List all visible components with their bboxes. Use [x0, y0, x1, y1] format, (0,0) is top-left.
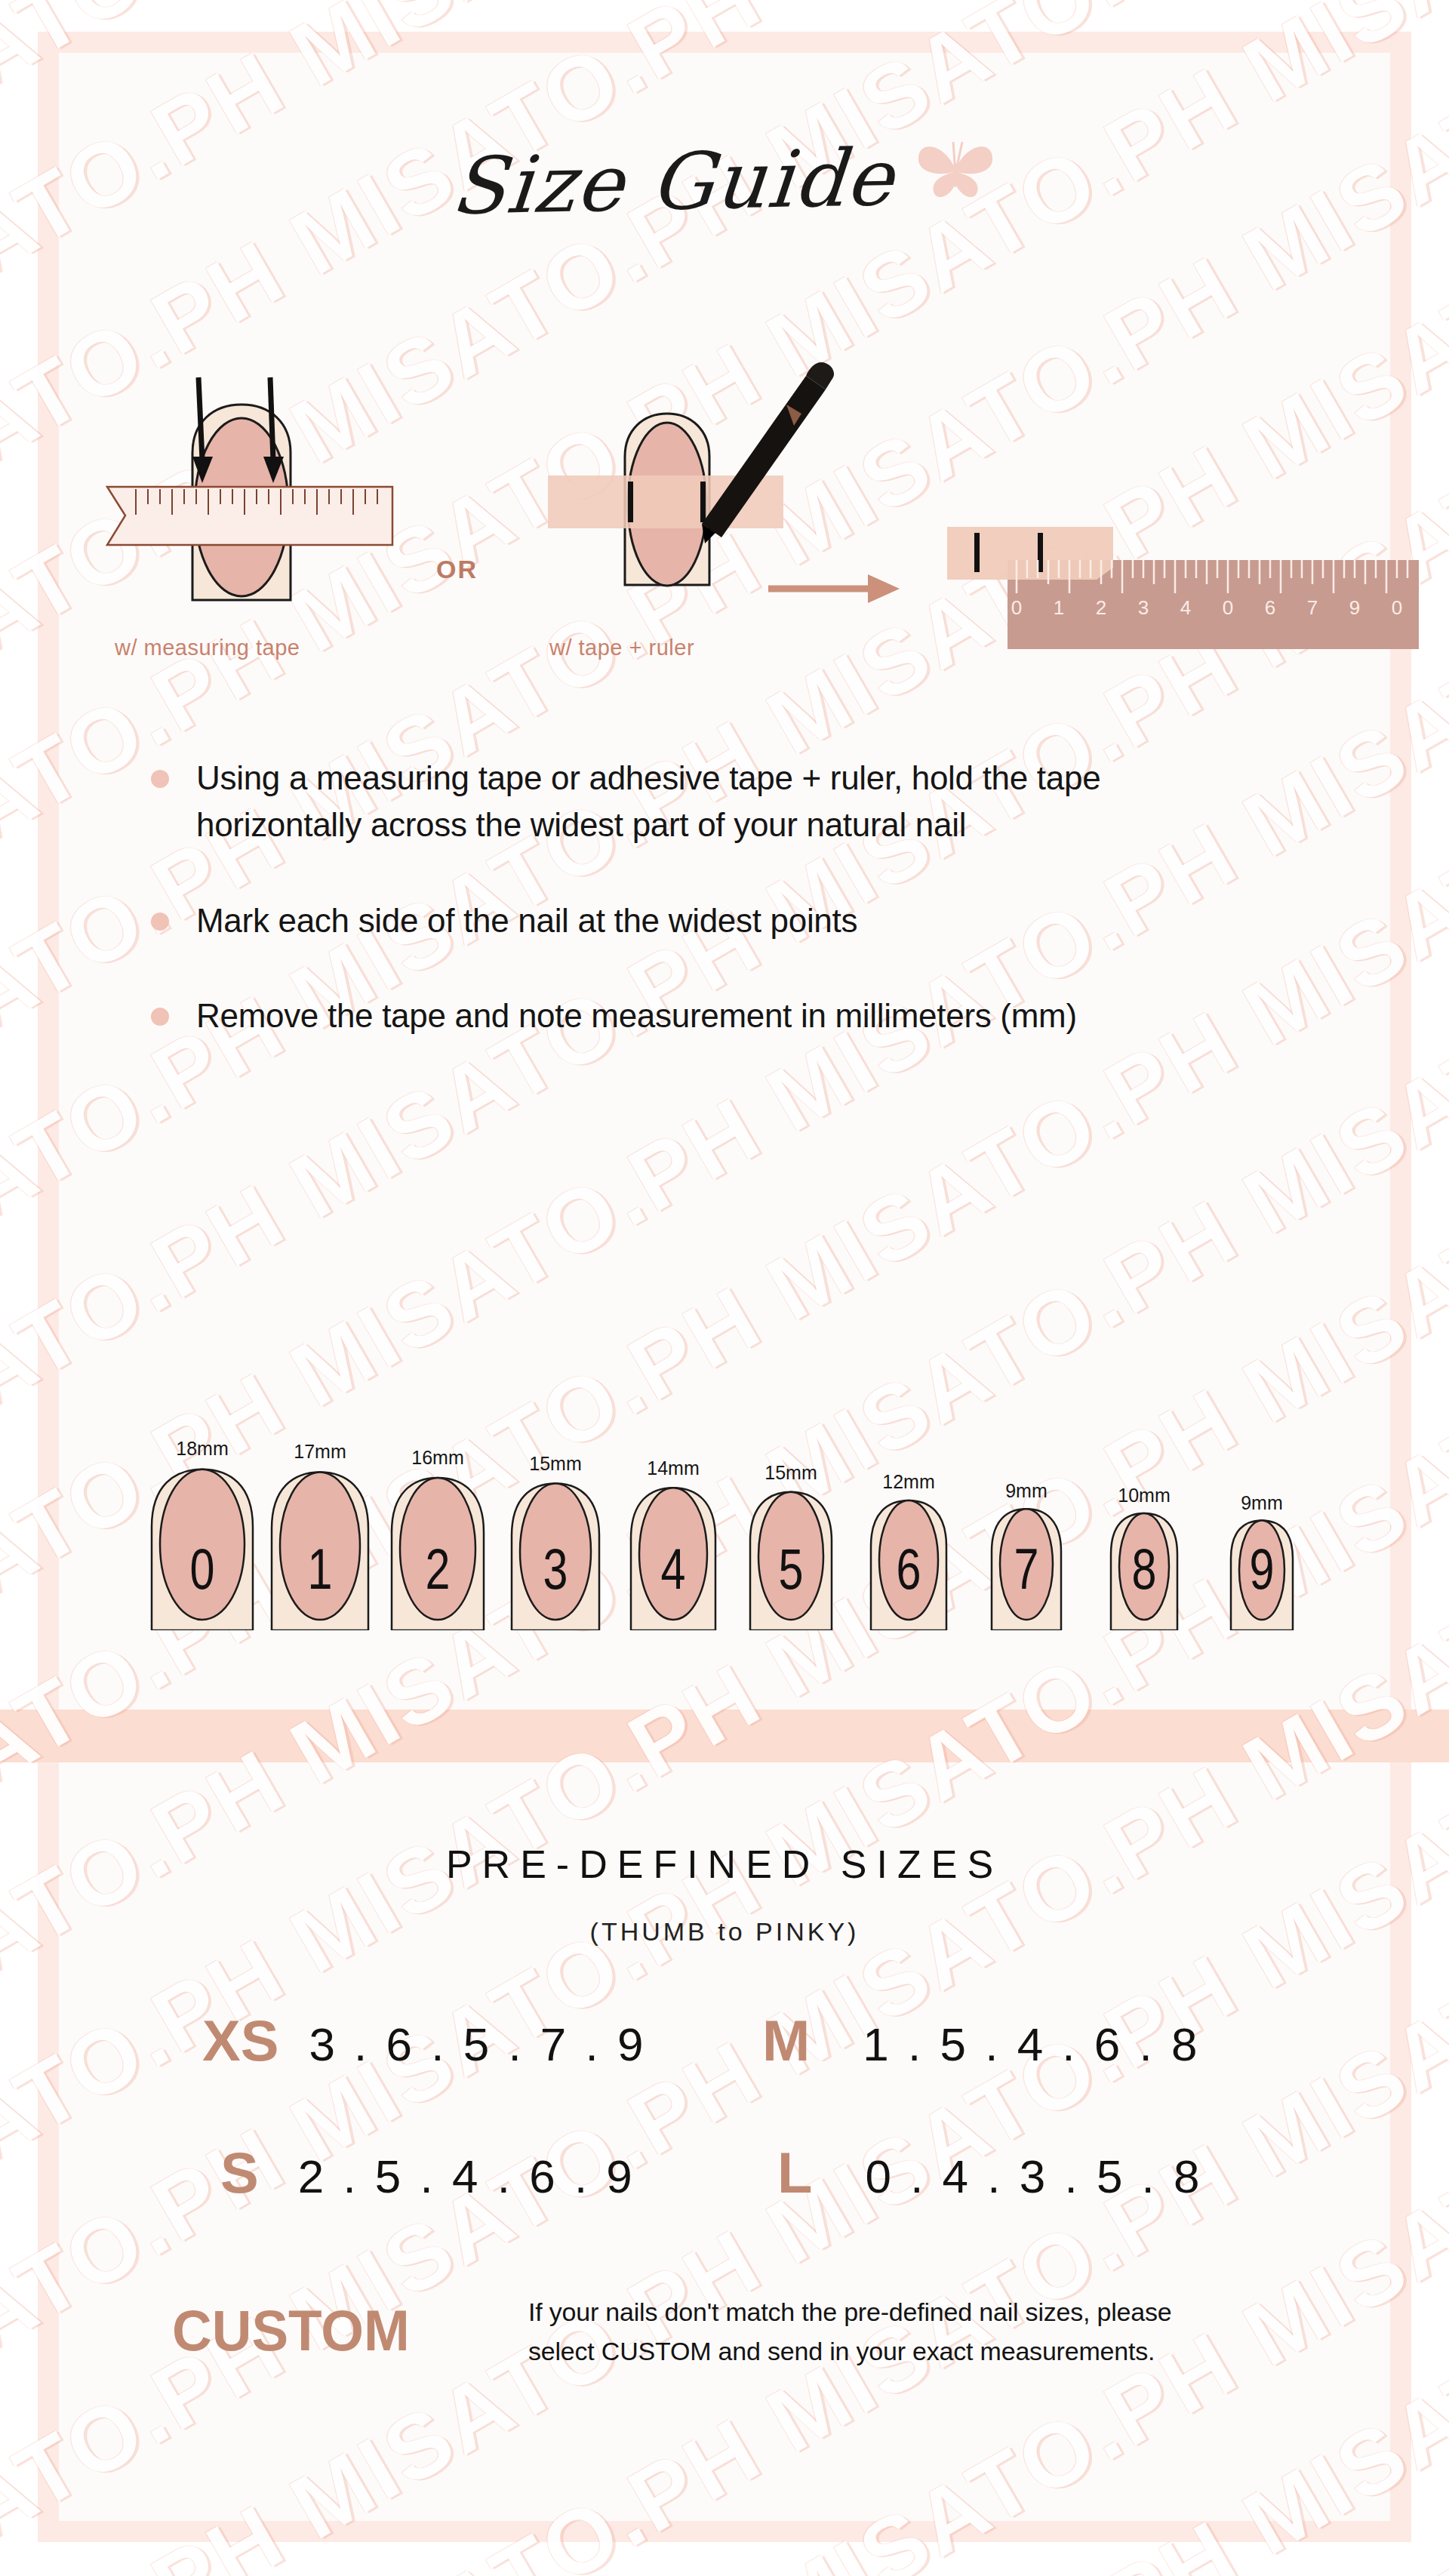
- page-title: Size Guide: [448, 131, 898, 232]
- nail-measurement-label: 18mm: [176, 1438, 228, 1460]
- page-title-wrap: Size Guide: [0, 136, 1449, 228]
- size-cell-s: S 2 . 5 . 4 . 6 . 9: [220, 2140, 635, 2205]
- instruction-text: Remove the tape and note measurement in …: [196, 993, 1077, 1039]
- nail-size-number: 2: [426, 1536, 451, 1602]
- size-label: M: [762, 2008, 810, 2073]
- ruler-tick-label: 3: [1138, 596, 1149, 619]
- size-row: S 2 . 5 . 4 . 6 . 9 L 0 . 4 . 3 . 5 . 8: [0, 2140, 1449, 2272]
- nail-size-number: 7: [1014, 1536, 1039, 1602]
- size-cell-xs: XS 3 . 6 . 5 . 7 . 9: [202, 2008, 647, 2073]
- butterfly-icon: [914, 130, 997, 208]
- size-values: 1 . 5 . 4 . 6 . 8: [863, 2017, 1200, 2071]
- size-values: 2 . 5 . 4 . 6 . 9: [298, 2150, 635, 2203]
- size-values: 0 . 4 . 3 . 5 . 8: [865, 2150, 1202, 2203]
- nail-measurement-label: 17mm: [294, 1441, 346, 1463]
- nail-size-number: 4: [661, 1536, 686, 1602]
- instructions-list: Using a measuring tape or adhesive tape …: [151, 755, 1298, 1075]
- or-label: OR: [436, 555, 478, 584]
- custom-description: If your nails don't match the pre-define…: [528, 2293, 1177, 2371]
- predefined-sizes-heading: PRE-DEFINED SIZES: [0, 1842, 1449, 1887]
- custom-label: CUSTOM: [172, 2297, 410, 2363]
- caption-measuring-tape: w/ measuring tape: [115, 636, 300, 660]
- nail-measurement-label: 15mm: [529, 1453, 581, 1475]
- size-row: XS 3 . 6 . 5 . 7 . 9 M 1 . 5 . 4 . 6 . 8: [0, 2008, 1449, 2140]
- list-item: Mark each side of the nail at the widest…: [151, 897, 1298, 944]
- nail-size-number: 0: [190, 1536, 215, 1602]
- instruction-text: Mark each side of the nail at the widest…: [196, 897, 857, 944]
- nail-measurement-label: 10mm: [1118, 1485, 1170, 1507]
- ruler-tick-label: 7: [1307, 596, 1318, 619]
- nail-measurement-label: 9mm: [1241, 1492, 1283, 1514]
- bullet-dot-icon: [151, 913, 169, 931]
- ruler-tick-label: 1: [1054, 596, 1064, 619]
- list-item: Remove the tape and note measurement in …: [151, 993, 1298, 1039]
- nail-measurement-label: 9mm: [1005, 1480, 1048, 1502]
- measuring-illustrations: w/ measuring tape OR w/ tape + ruler: [0, 325, 1449, 717]
- nail-measurement-label: 15mm: [764, 1462, 817, 1484]
- predefined-sizes-subheading: (THUMB to PINKY): [0, 1917, 1449, 1947]
- size-label: S: [220, 2140, 259, 2205]
- list-item: Using a measuring tape or adhesive tape …: [151, 755, 1298, 849]
- bullet-dot-icon: [151, 1008, 169, 1026]
- nail-measurement-label: 16mm: [411, 1447, 463, 1469]
- nail-measurement-label: 14mm: [647, 1457, 699, 1479]
- ruler-tick-label: 4: [1180, 596, 1191, 619]
- caption-tape-ruler: w/ tape + ruler: [549, 636, 694, 660]
- nail-size-numbers: 0123456789: [143, 1536, 1321, 1619]
- ruler-tick-label: 0: [1011, 596, 1022, 619]
- size-label: L: [777, 2140, 812, 2205]
- nail-size-number: 5: [779, 1536, 804, 1602]
- predefined-sizes-grid: XS 3 . 6 . 5 . 7 . 9 M 1 . 5 . 4 . 6 . 8…: [0, 2008, 1449, 2272]
- ruler-tick-label: 6: [1265, 596, 1275, 619]
- size-cell-m: M 1 . 5 . 4 . 6 . 8: [762, 2008, 1200, 2073]
- ruler-tick-label: 2: [1096, 596, 1106, 619]
- size-label: XS: [202, 2008, 278, 2073]
- nail-size-number: 6: [897, 1536, 921, 1602]
- nail-size-number: 1: [308, 1536, 333, 1602]
- nail-size-number: 3: [543, 1536, 568, 1602]
- ruler-tick-label: 9: [1349, 596, 1360, 619]
- transfer-arrow-icon: [768, 570, 904, 608]
- nail-size-number: 9: [1250, 1536, 1275, 1602]
- size-values: 3 . 6 . 5 . 7 . 9: [309, 2017, 646, 2071]
- nail-size-number: 8: [1132, 1536, 1157, 1602]
- instruction-text: Using a measuring tape or adhesive tape …: [196, 755, 1268, 849]
- ruler-tick-label: 0: [1223, 596, 1233, 619]
- illustration-ruler: 0123406790: [947, 521, 1419, 653]
- illustration-measuring-tape: [75, 340, 423, 634]
- nail-measurement-label: 12mm: [882, 1471, 934, 1493]
- bullet-dot-icon: [151, 770, 169, 788]
- size-cell-l: L 0 . 4 . 3 . 5 . 8: [777, 2140, 1203, 2205]
- ruler-tick-label: 0: [1392, 596, 1402, 619]
